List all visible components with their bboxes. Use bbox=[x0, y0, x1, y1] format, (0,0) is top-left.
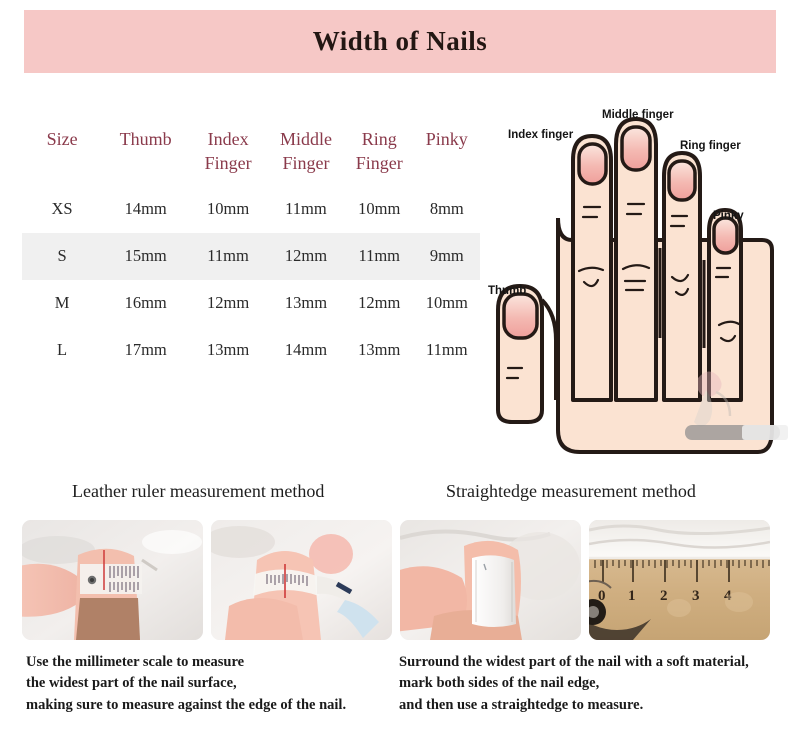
cell-middle: 13mm bbox=[267, 280, 345, 327]
photo-straightedge-ruler: 0 1 2 3 4 bbox=[589, 520, 770, 640]
cell-size: S bbox=[22, 233, 102, 280]
heading-leather-ruler-method: Leather ruler measurement method bbox=[72, 481, 324, 502]
middle-finger-nail bbox=[622, 127, 650, 170]
table-row: L 17mm 13mm 14mm 13mm 11mm bbox=[22, 327, 480, 374]
size-table-body: XS 14mm 10mm 11mm 10mm 8mm S 15mm 11mm 1… bbox=[22, 186, 480, 374]
page-title: Width of Nails bbox=[313, 26, 488, 57]
thumb-nail bbox=[504, 294, 537, 338]
cell-index: 13mm bbox=[189, 327, 267, 374]
ring-finger-nail bbox=[669, 161, 695, 200]
photo3-svg bbox=[400, 520, 581, 640]
column-header-size: Size bbox=[22, 128, 102, 186]
caption-leather-ruler-method: Use the millimeter scale to measure the … bbox=[26, 652, 346, 716]
cell-pinky: 10mm bbox=[414, 280, 480, 327]
table-row: M 16mm 12mm 13mm 12mm 10mm bbox=[22, 280, 480, 327]
caption-straightedge-method: Surround the widest part of the nail wit… bbox=[399, 652, 749, 716]
column-header-pinky: Pinky bbox=[414, 128, 480, 186]
cell-index: 10mm bbox=[189, 186, 267, 233]
thumb-edge bbox=[542, 300, 556, 400]
photo1-svg bbox=[22, 520, 203, 640]
cell-thumb: 16mm bbox=[102, 280, 189, 327]
label-thumb: Thumb bbox=[488, 285, 526, 297]
cell-middle: 14mm bbox=[267, 327, 345, 374]
cell-ring: 10mm bbox=[345, 186, 414, 233]
cell-pinky: 9mm bbox=[414, 233, 480, 280]
size-table-head: Size Thumb Index Finger Middle Finger Ri… bbox=[22, 128, 480, 186]
photo4-svg: 0 1 2 3 4 bbox=[589, 520, 770, 640]
ruler-tick-3: 3 bbox=[692, 588, 700, 604]
cell-pinky: 8mm bbox=[414, 186, 480, 233]
cell-size: M bbox=[22, 280, 102, 327]
title-banner: Width of Nails bbox=[24, 10, 776, 73]
label-ring-finger: Ring finger bbox=[680, 140, 741, 152]
hand-illustration: Index finger Middle finger Ring finger P… bbox=[480, 100, 794, 470]
photo-leather-ruler-flat bbox=[22, 520, 203, 640]
pinky-finger-nail bbox=[714, 218, 737, 253]
table-row: S 15mm 11mm 12mm 11mm 9mm bbox=[22, 233, 480, 280]
label-pinky-finger: Pinky bbox=[713, 210, 744, 222]
cell-middle: 12mm bbox=[267, 233, 345, 280]
photo-leather-ruler-wrapped bbox=[211, 520, 392, 640]
ruler-tick-1: 1 bbox=[628, 588, 636, 604]
cell-ring: 11mm bbox=[345, 233, 414, 280]
hand-svg bbox=[480, 100, 794, 470]
cell-ring: 13mm bbox=[345, 327, 414, 374]
cell-thumb: 17mm bbox=[102, 327, 189, 374]
table-row: XS 14mm 10mm 11mm 10mm 8mm bbox=[22, 186, 480, 233]
watermark-bar-right bbox=[742, 425, 788, 440]
cell-pinky: 11mm bbox=[414, 327, 480, 374]
size-table: Size Thumb Index Finger Middle Finger Ri… bbox=[22, 128, 480, 374]
cell-index: 12mm bbox=[189, 280, 267, 327]
photo2-svg bbox=[211, 520, 392, 640]
cell-size: L bbox=[22, 327, 102, 374]
cell-middle: 11mm bbox=[267, 186, 345, 233]
label-index-finger: Index finger bbox=[508, 129, 573, 141]
cell-ring: 12mm bbox=[345, 280, 414, 327]
ruler-tick-2: 2 bbox=[660, 588, 668, 604]
photo-soft-material-wrap bbox=[400, 520, 581, 640]
cell-thumb: 15mm bbox=[102, 233, 189, 280]
size-table-grid: Size Thumb Index Finger Middle Finger Ri… bbox=[22, 128, 480, 374]
nail-size-chart-page: Width of Nails Size Thumb Index Finger M… bbox=[0, 0, 794, 744]
label-middle-finger: Middle finger bbox=[602, 109, 674, 121]
column-header-middle: Middle Finger bbox=[267, 128, 345, 186]
column-header-index: Index Finger bbox=[189, 128, 267, 186]
cell-thumb: 14mm bbox=[102, 186, 189, 233]
cell-size: XS bbox=[22, 186, 102, 233]
heading-straightedge-method: Straightedge measurement method bbox=[446, 481, 696, 502]
column-header-thumb: Thumb bbox=[102, 128, 189, 186]
index-finger-nail bbox=[579, 144, 606, 184]
column-header-ring: Ring Finger bbox=[345, 128, 414, 186]
table-header-row: Size Thumb Index Finger Middle Finger Ri… bbox=[22, 128, 480, 186]
photo-row: 0 1 2 3 4 bbox=[22, 520, 774, 640]
cell-index: 11mm bbox=[189, 233, 267, 280]
